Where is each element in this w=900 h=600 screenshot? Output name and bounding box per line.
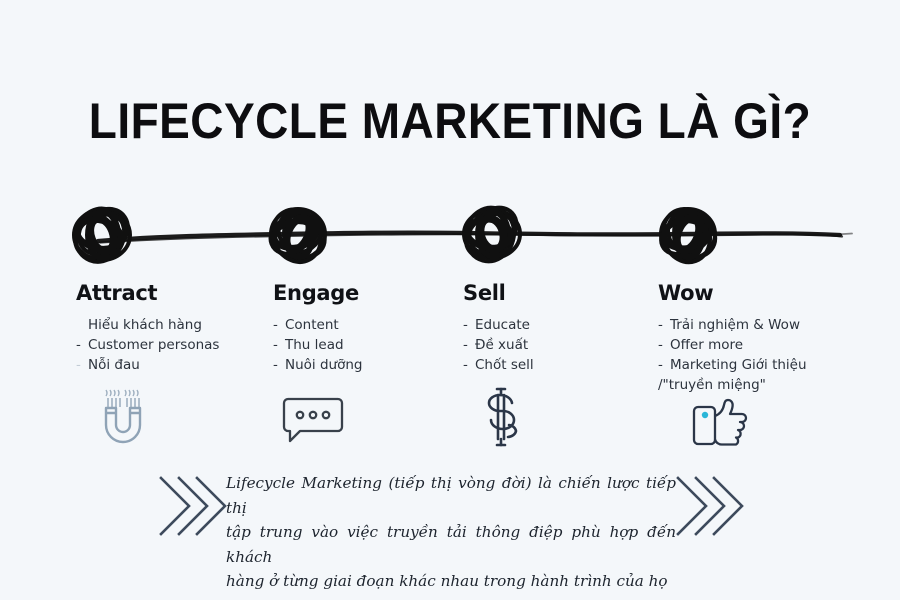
list-item: -Thu lead [273, 335, 458, 355]
chevron-right-icon [678, 478, 706, 534]
stage-heading-sell: Sell [463, 283, 648, 304]
chevron-cluster-right [672, 468, 744, 544]
list-item: -Nỗi đau [76, 355, 266, 375]
bullet-dash: - [76, 335, 81, 355]
stage-heading-wow: Wow [658, 283, 858, 304]
chevron-cluster-left [155, 468, 227, 544]
bullet-dash: - [273, 335, 278, 355]
bullet-dash: - [273, 315, 278, 335]
speech-bubble-icon [281, 393, 345, 447]
bullet-dash: - [463, 335, 468, 355]
chevron-right-icon [161, 478, 189, 534]
bullet-dash: - [463, 315, 468, 335]
thumbs-up-icon [691, 398, 749, 448]
caption-line-2: tập trung vào việc truyền tải thông điệp… [226, 520, 676, 569]
list-item: -Educate [463, 315, 648, 335]
stage-column-sell: Sell -Educate -Đề xuất -Chốt sell [463, 283, 648, 375]
list-item-text: Hiểu khách hàng [88, 317, 202, 333]
list-item: -Chốt sell [463, 355, 648, 375]
stage-heading-attract: Attract [76, 283, 266, 304]
list-item-text: /"truyền miệng" [658, 377, 766, 393]
scribble-timeline [40, 185, 860, 275]
list-item: Hiểu khách hàng [76, 315, 266, 335]
list-item-text: Nỗi đau [88, 357, 140, 373]
list-item-text: Offer more [670, 337, 743, 353]
caption-line-1: Lifecycle Marketing (tiếp thị vòng đời) … [226, 471, 676, 520]
list-item-text: Đề xuất [475, 337, 528, 353]
list-item: -Trải nghiệm & Wow [658, 315, 858, 335]
stage-column-wow: Wow -Trải nghiệm & Wow -Offer more -Mark… [658, 283, 858, 395]
bullet-dash: - [658, 335, 663, 355]
dollar-sign-icon [473, 385, 529, 449]
list-item-text: Thu lead [285, 337, 344, 353]
bullet-dash: - [273, 355, 278, 375]
caption-block: Lifecycle Marketing (tiếp thị vòng đời) … [226, 471, 676, 594]
list-item: -Đề xuất [463, 335, 648, 355]
list-item-text: Customer personas [88, 337, 219, 353]
chevron-right-icon [714, 478, 742, 534]
bullet-dash: - [76, 355, 81, 375]
chevron-right-icon [696, 478, 724, 534]
accent-dot [702, 412, 708, 418]
stage-column-attract: Attract Hiểu khách hàng -Customer person… [76, 283, 266, 375]
bullet-dash: - [658, 355, 663, 375]
stage-list-wow: -Trải nghiệm & Wow -Offer more -Marketin… [658, 315, 858, 395]
caption-line-3: hàng ở từng giai đoạn khác nhau trong hà… [226, 569, 676, 594]
list-item-text: Content [285, 317, 339, 333]
list-item: /"truyền miệng" [658, 375, 858, 395]
list-item-text: Marketing Giới thiệu [670, 357, 807, 373]
magnet-icon [95, 386, 151, 448]
bullet-dash: - [658, 315, 663, 335]
list-item: -Content [273, 315, 458, 335]
list-item-text: Nuôi dưỡng [285, 357, 362, 373]
page-title: LIFECYCLE MARKETING LÀ GÌ? [36, 92, 864, 150]
list-item: -Customer personas [76, 335, 266, 355]
chevron-right-icon [197, 478, 225, 534]
stage-heading-engage: Engage [273, 283, 458, 304]
list-item-text: Educate [475, 317, 530, 333]
stage-list-engage: -Content -Thu lead -Nuôi dưỡng [273, 315, 458, 375]
chevron-right-icon [179, 478, 207, 534]
list-item-text: Trải nghiệm & Wow [670, 317, 800, 333]
list-item: -Marketing Giới thiệu [658, 355, 858, 375]
stage-column-engage: Engage -Content -Thu lead -Nuôi dưỡng [273, 283, 458, 375]
list-item: -Nuôi dưỡng [273, 355, 458, 375]
stage-list-sell: -Educate -Đề xuất -Chốt sell [463, 315, 648, 375]
list-item-text: Chốt sell [475, 357, 534, 373]
bullet-dash: - [463, 355, 468, 375]
infographic-canvas: LIFECYCLE MARKETING LÀ GÌ? [0, 0, 900, 600]
list-item: -Offer more [658, 335, 858, 355]
stage-list-attract: Hiểu khách hàng -Customer personas -Nỗi … [76, 315, 266, 375]
